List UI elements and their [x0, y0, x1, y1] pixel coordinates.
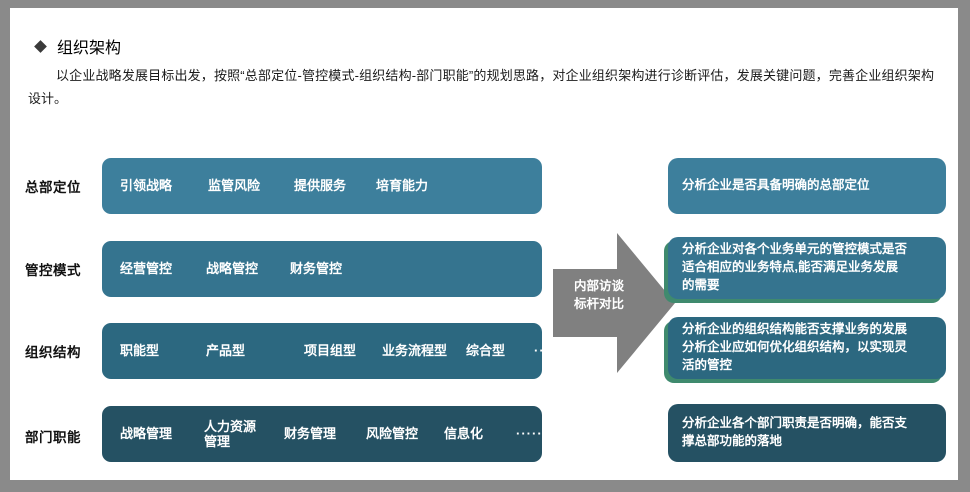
chip-item[interactable]: 监管风险	[208, 178, 294, 193]
finding-box-1[interactable]: 分析企业是否具备明确的总部定位	[668, 158, 946, 214]
chip-item[interactable]: 战略管理	[120, 426, 204, 441]
row-bar-zongbudingwei[interactable]: 引领战略 监管风险 提供服务 培育能力	[102, 158, 542, 214]
chip-item[interactable]: 经营管控	[120, 261, 206, 276]
row-label-bumenzhineng: 部门职能	[10, 426, 96, 446]
row-bar-bumenzhineng[interactable]: 战略管理 人力资源 管理 财务管理 风险管控 信息化 ·····	[102, 406, 542, 462]
chip-item[interactable]: 职能型	[120, 343, 206, 358]
process-arrow: 内部访谈 标杆对比	[553, 233, 675, 373]
chip-item[interactable]: 财务管控	[290, 261, 372, 276]
chip-item[interactable]: 提供服务	[294, 178, 376, 193]
finding-text: 分析企业对各个业务单元的管控模式是否 适合相应的业务特点,能否满足业务发展 的需…	[682, 241, 907, 294]
chip-item[interactable]: 风险管控	[366, 426, 444, 441]
row-bar-zuzhijiegou[interactable]: 职能型 产品型 项目组型 业务流程型 综合型 ·····	[102, 323, 542, 379]
bullet-heading: 组织架构	[10, 34, 958, 58]
header-block: 组织架构 以企业战略发展目标出发，按照“总部定位-管控模式-组织结构-部门职能”…	[10, 34, 958, 111]
finding-text: 分析企业是否具备明确的总部定位	[682, 177, 870, 195]
row-label-zuzhijiegou: 组织结构	[10, 341, 96, 361]
chip-item[interactable]: 财务管理	[284, 426, 366, 441]
row-label-zongbudingwei: 总部定位	[10, 176, 96, 196]
chip-item[interactable]: 引领战略	[120, 178, 208, 193]
chip-item[interactable]: 信息化	[444, 426, 516, 441]
row-label-guankongmoshi: 管控模式	[10, 259, 96, 279]
finding-box-3[interactable]: 分析企业的组织结构能否支撑业务的发展 分析企业应如何优化组织结构，以实现灵 活的…	[668, 317, 946, 379]
chip-item[interactable]: 综合型	[466, 343, 534, 358]
chip-item[interactable]: 培育能力	[376, 178, 456, 193]
chip-item[interactable]: 业务流程型	[382, 343, 466, 358]
chip-item[interactable]: 战略管控	[206, 261, 290, 276]
slide-canvas: 组织架构 以企业战略发展目标出发，按照“总部定位-管控模式-组织结构-部门职能”…	[10, 8, 958, 480]
page-title: 组织架构	[57, 34, 121, 58]
arrow-label: 内部访谈 标杆对比	[561, 277, 637, 313]
chip-item[interactable]: 项目组型	[304, 343, 382, 358]
diamond-bullet-icon	[34, 40, 47, 53]
row-bar-guankongmoshi[interactable]: 经营管控 战略管控 财务管控	[102, 241, 542, 297]
chip-item-ellipsis: ·····	[516, 426, 556, 441]
finding-text: 分析企业各个部门职责是否明确，能否支 撑总部功能的落地	[682, 415, 907, 451]
header-paragraph: 以企业战略发展目标出发，按照“总部定位-管控模式-组织结构-部门职能”的规划思路…	[10, 65, 958, 111]
finding-text: 分析企业的组织结构能否支撑业务的发展 分析企业应如何优化组织结构，以实现灵 活的…	[682, 321, 907, 374]
chip-item[interactable]: 人力资源 管理	[204, 419, 284, 450]
finding-box-2[interactable]: 分析企业对各个业务单元的管控模式是否 适合相应的业务特点,能否满足业务发展 的需…	[668, 237, 946, 299]
finding-box-4[interactable]: 分析企业各个部门职责是否明确，能否支 撑总部功能的落地	[668, 404, 946, 462]
chip-item[interactable]: 产品型	[206, 343, 304, 358]
